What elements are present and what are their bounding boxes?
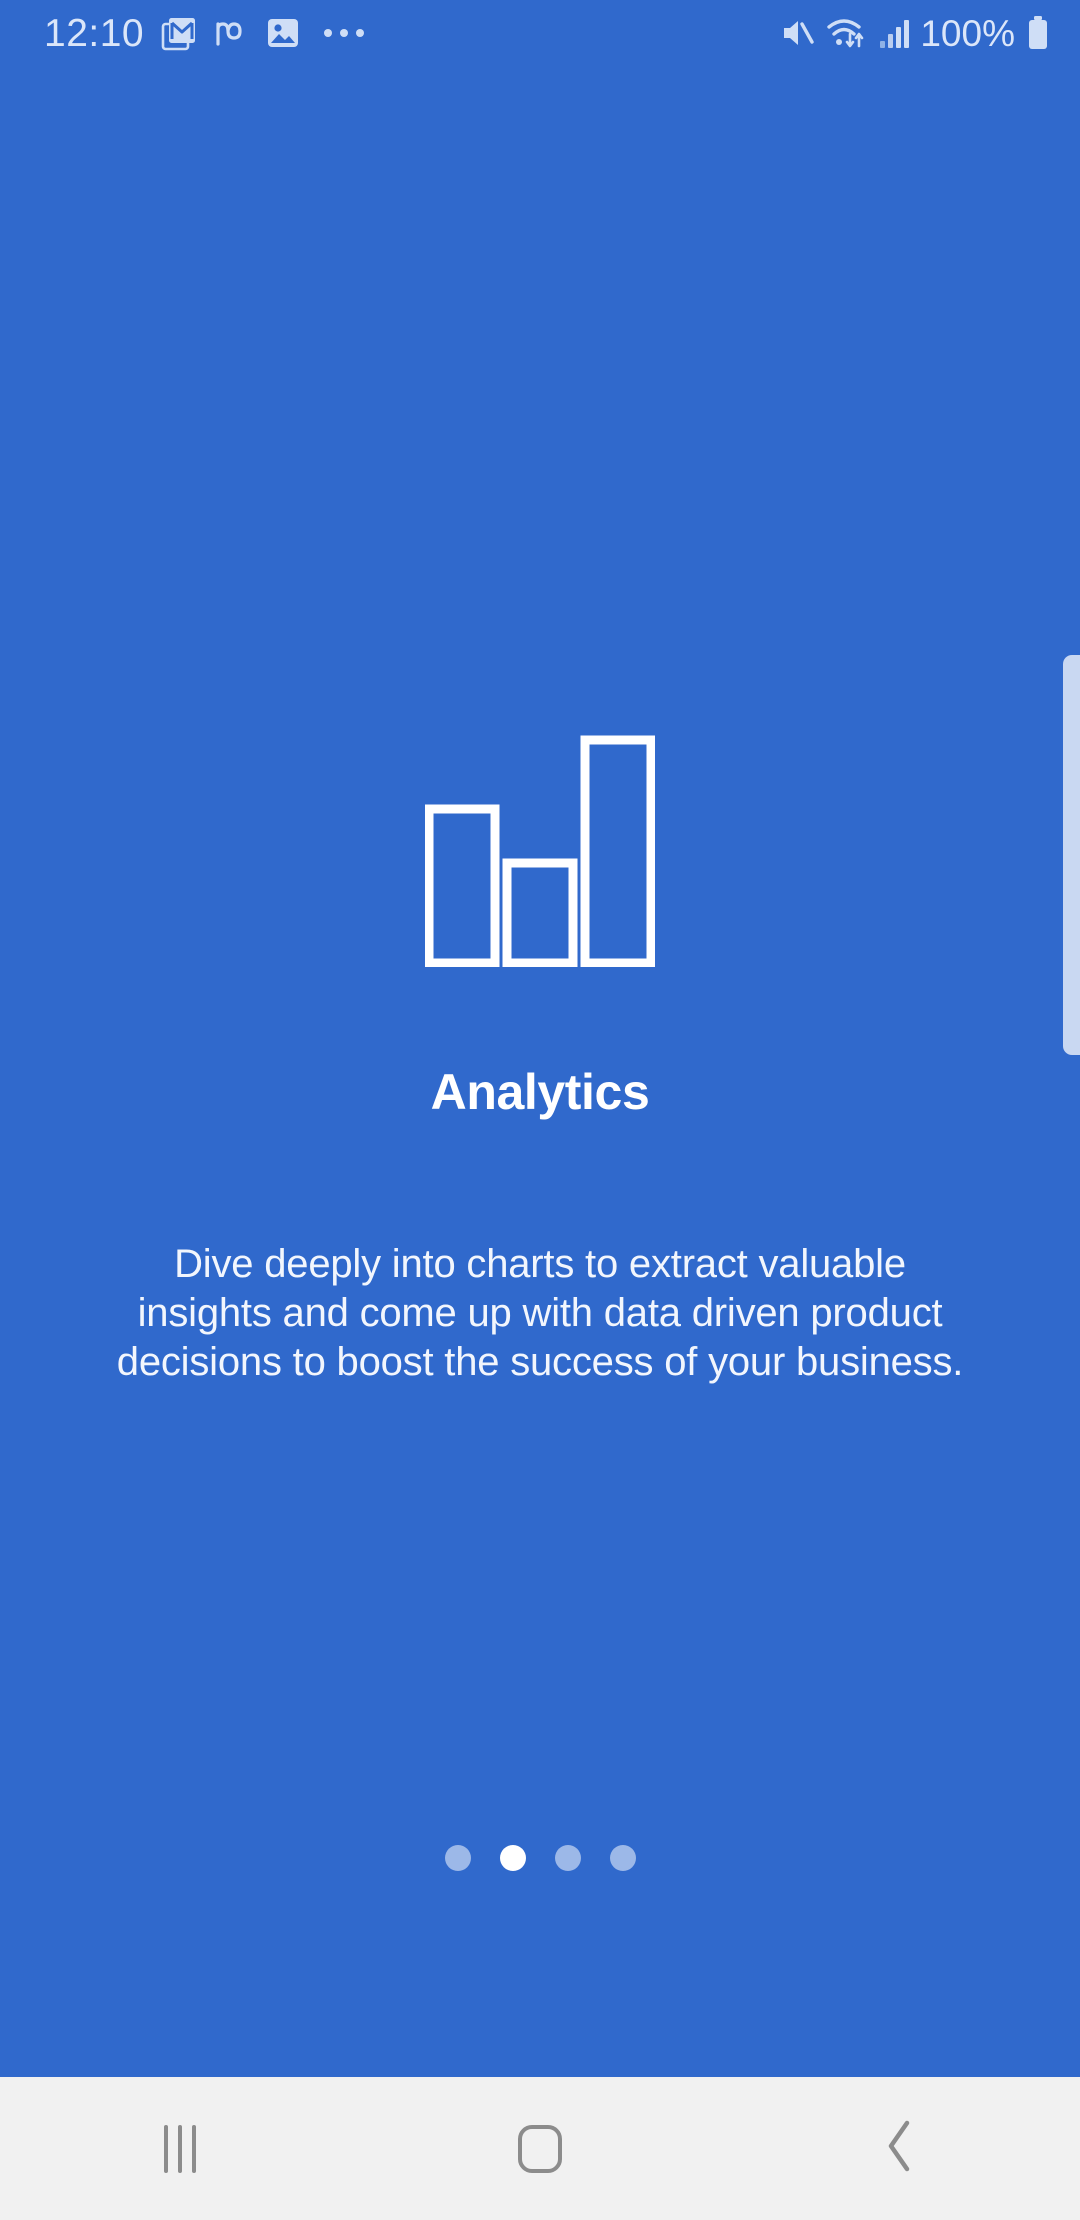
page-dot-2[interactable] bbox=[500, 1845, 526, 1871]
recents-button[interactable] bbox=[70, 2077, 290, 2220]
page-dot-3[interactable] bbox=[555, 1845, 581, 1871]
page-title: Analytics bbox=[0, 1065, 1080, 1120]
app-surface: 12:10 bbox=[0, 0, 1080, 2077]
description-line-2: insights and come up with data driven pr… bbox=[60, 1289, 1020, 1338]
bar-chart-icon bbox=[425, 735, 655, 967]
description-line-3: decisions to boost the success of your b… bbox=[60, 1338, 1020, 1387]
onboarding-page: Analytics Dive deeply into charts to ext… bbox=[0, 0, 1080, 2077]
back-icon bbox=[880, 2118, 920, 2179]
page-description: Dive deeply into charts to extract valua… bbox=[0, 1240, 1080, 1387]
page-dot-1[interactable] bbox=[445, 1845, 471, 1871]
page-indicator[interactable] bbox=[0, 1845, 1080, 1871]
home-button[interactable] bbox=[430, 2077, 650, 2220]
system-navigation-bar bbox=[0, 2077, 1080, 2220]
illustration bbox=[0, 735, 1080, 967]
phone-screen: 12:10 bbox=[0, 0, 1080, 2220]
recents-icon bbox=[164, 2125, 196, 2173]
home-icon bbox=[518, 2125, 562, 2173]
description-line-1: Dive deeply into charts to extract valua… bbox=[60, 1240, 1020, 1289]
back-button[interactable] bbox=[790, 2077, 1010, 2220]
page-dot-4[interactable] bbox=[610, 1845, 636, 1871]
